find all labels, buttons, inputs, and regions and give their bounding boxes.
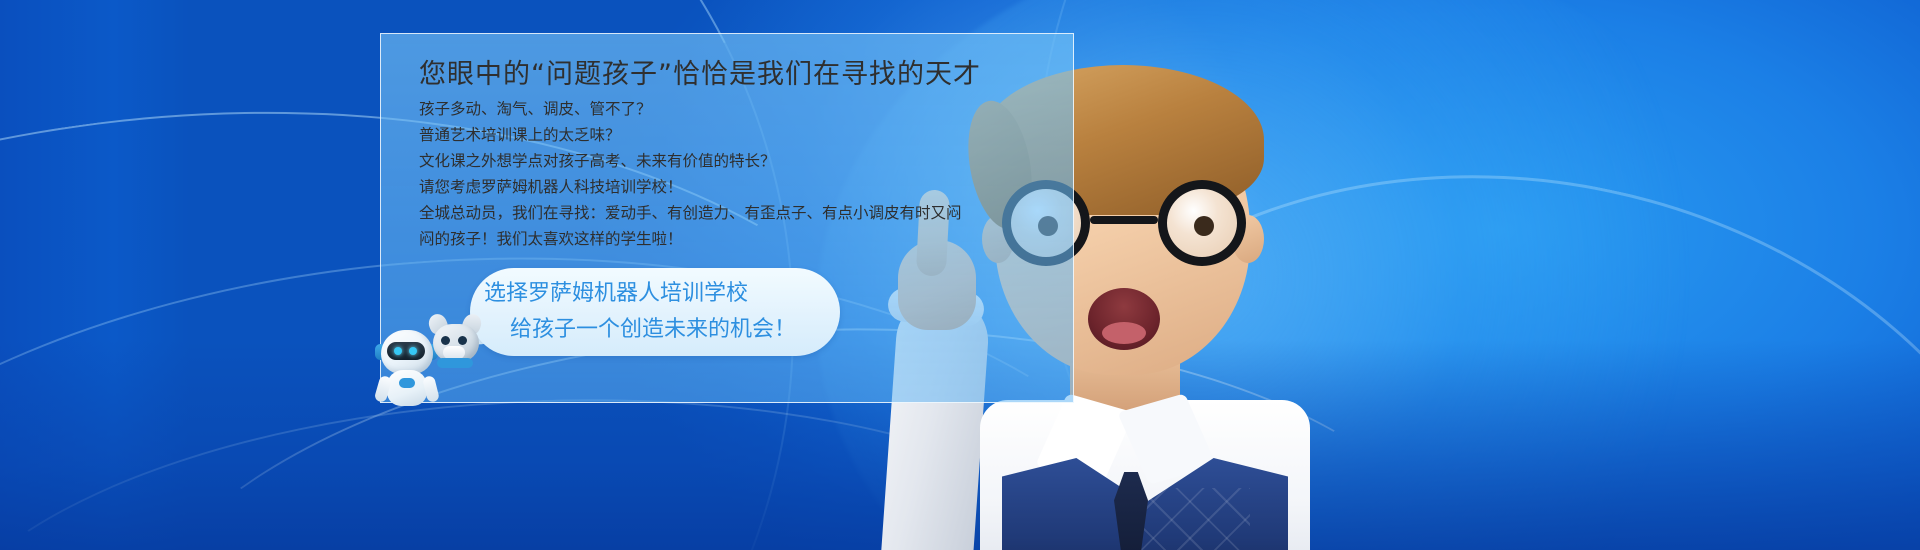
boy-tongue bbox=[1102, 322, 1146, 344]
body-line: 闷的孩子！我们太喜欢这样的学生啦！ bbox=[419, 226, 1051, 252]
speech-bubble-text: 选择罗萨姆机器人培训学校 给孩子一个创造未来的机会！ bbox=[470, 268, 840, 356]
speech-bubble-line-1: 选择罗萨姆机器人培训学校 bbox=[484, 276, 840, 312]
robot-dog-collar bbox=[437, 358, 473, 368]
body-copy: 孩子多动、淘气、调皮、管不了？ 普通艺术培训课上的太乏味？ 文化课之外想学点对孩… bbox=[419, 96, 1051, 252]
robot-eye-right bbox=[409, 347, 417, 355]
robot-body bbox=[387, 370, 427, 406]
body-line: 请您考虑罗萨姆机器人科技培训学校！ bbox=[419, 174, 1051, 200]
robot-visor bbox=[387, 342, 425, 360]
page-title: 您眼中的“问题孩子”恰恰是我们在寻找的天才 bbox=[419, 52, 981, 91]
speech-bubble: 选择罗萨姆机器人培训学校 给孩子一个创造未来的机会！ bbox=[470, 268, 840, 356]
body-line: 全城总动员，我们在寻找：爱动手、有创造力、有歪点子、有点小调皮有时又闷 bbox=[419, 200, 1051, 226]
body-line: 普通艺术培训课上的太乏味？ bbox=[419, 122, 1051, 148]
promo-banner: 您眼中的“问题孩子”恰恰是我们在寻找的天才 孩子多动、淘气、调皮、管不了？ 普通… bbox=[0, 0, 1920, 550]
robot-dog-eye-left bbox=[441, 336, 450, 345]
body-line: 文化课之外想学点对孩子高考、未来有价值的特长？ bbox=[419, 148, 1051, 174]
glasses-bridge bbox=[1090, 216, 1158, 224]
robot-eye-left bbox=[394, 347, 402, 355]
boy-pupil-right bbox=[1194, 216, 1214, 236]
body-line: 孩子多动、淘气、调皮、管不了？ bbox=[419, 96, 1051, 122]
robot-dog-eye-right bbox=[458, 336, 467, 345]
speech-bubble-line-2: 给孩子一个创造未来的机会！ bbox=[484, 312, 840, 348]
robot-dog-icon bbox=[425, 310, 505, 380]
robot-chest-panel bbox=[399, 378, 415, 388]
boy-vest-pattern bbox=[1130, 488, 1250, 550]
